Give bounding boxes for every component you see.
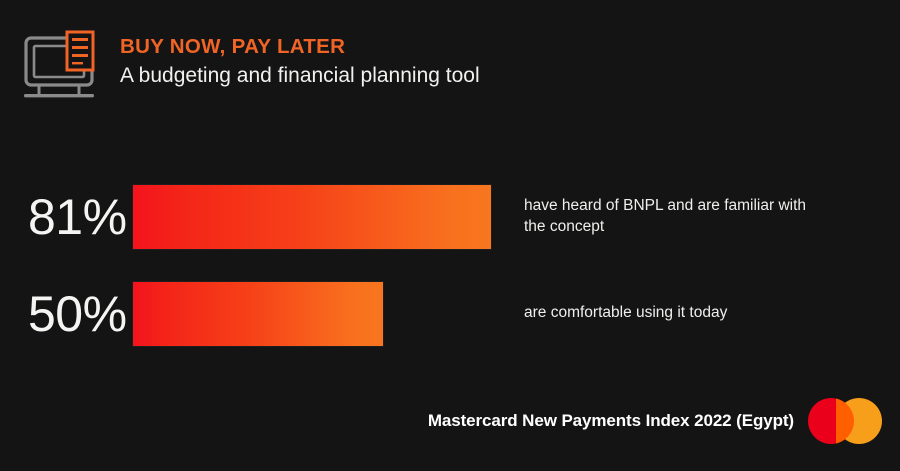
mastercard-overlap — [836, 398, 854, 444]
stat-bar-fill — [133, 282, 383, 346]
stat-row: 50% are comfortable using it today — [0, 265, 900, 362]
laptop-document-icon — [20, 30, 108, 102]
stat-bar-fill — [133, 185, 491, 249]
page-subtitle: A budgeting and financial planning tool — [120, 63, 480, 88]
page-title: BUY NOW, PAY LATER — [120, 36, 480, 59]
stat-description: have heard of BNPL and are familiar with… — [524, 196, 824, 238]
stat-value-label: 50% — [0, 289, 133, 339]
footer: Mastercard New Payments Index 2022 (Egyp… — [428, 398, 882, 444]
stat-description: are comfortable using it today — [524, 303, 727, 324]
stat-bar-track — [133, 185, 497, 249]
stat-value-label: 81% — [0, 192, 133, 242]
stats-bar-chart: 81% have heard of BNPL and are familiar … — [0, 168, 900, 362]
mastercard-logo — [808, 398, 882, 444]
bnpl-infographic: BUY NOW, PAY LATER A budgeting and finan… — [0, 0, 900, 471]
header-text-block: BUY NOW, PAY LATER A budgeting and finan… — [120, 28, 480, 88]
stat-bar-track — [133, 282, 497, 346]
stat-row: 81% have heard of BNPL and are familiar … — [0, 168, 900, 265]
header: BUY NOW, PAY LATER A budgeting and finan… — [20, 28, 480, 102]
source-attribution: Mastercard New Payments Index 2022 (Egyp… — [428, 411, 794, 431]
